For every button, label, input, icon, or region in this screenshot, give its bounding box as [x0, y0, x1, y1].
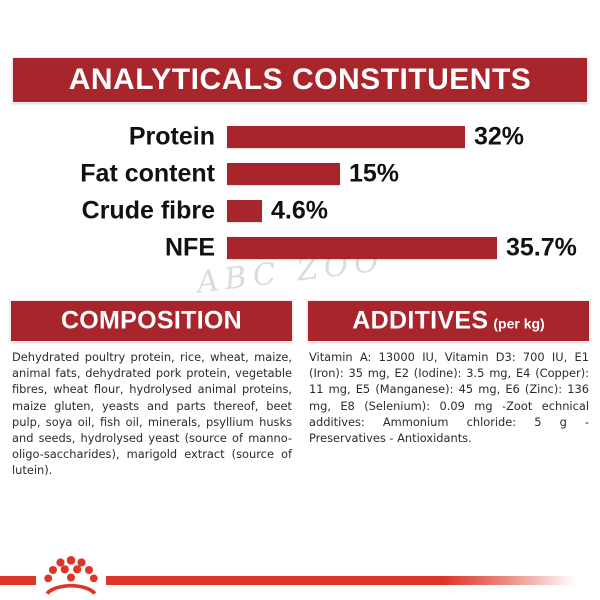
analytics-row-label: Protein [129, 122, 215, 151]
analytics-row-track: 4.6% [227, 200, 262, 222]
footer-logo-bar [0, 552, 600, 600]
analytics-row-value: 32% [474, 122, 524, 151]
additives-header-subtitle: (per kg) [493, 316, 544, 332]
product-label-page: ABC ZOO ANALYTICALS CONSTITUENTS Protein… [0, 0, 600, 600]
analytics-bar [227, 126, 465, 148]
analytics-row: Protein 32% [0, 118, 600, 155]
analytics-row-value: 35.7% [506, 233, 577, 262]
analytics-row-label: Fat content [80, 159, 215, 188]
analytics-bar [227, 200, 262, 222]
composition-panel: COMPOSITION Dehydrated poultry protein, … [10, 300, 293, 479]
analytics-row-track: 35.7% [227, 237, 497, 259]
analytics-row-label: NFE [165, 233, 215, 262]
additives-header-title: ADDITIVES [352, 307, 488, 335]
footer-rule-right [106, 576, 576, 585]
analytics-bar [227, 163, 340, 185]
analytics-row-track: 32% [227, 126, 465, 148]
analytics-chart: Protein 32% Fat content 15% Crude fibre … [0, 118, 600, 266]
analytics-bar [227, 237, 497, 259]
analytics-row-label: Crude fibre [82, 196, 215, 225]
composition-body-text: Dehydrated poultry protein, rice, wheat,… [10, 342, 293, 479]
analytics-row: NFE 35.7% [0, 229, 600, 266]
additives-header: ADDITIVES(per kg) [307, 300, 590, 342]
royal-crown-icon [33, 552, 109, 598]
analytics-row: Fat content 15% [0, 155, 600, 192]
analytics-row: Crude fibre 4.6% [0, 192, 600, 229]
composition-header-title: COMPOSITION [61, 307, 242, 335]
composition-header: COMPOSITION [10, 300, 293, 342]
analytics-row-value: 4.6% [271, 196, 328, 225]
additives-panel: ADDITIVES(per kg) Vitamin A: 13000 IU, V… [307, 300, 590, 446]
analytics-row-track: 15% [227, 163, 340, 185]
analyticals-constituents-banner: ANALYTICALS CONSTITUENTS [12, 57, 588, 103]
analytics-row-value: 15% [349, 159, 399, 188]
additives-body-text: Vitamin A: 13000 IU, Vitamin D3: 700 IU,… [307, 342, 590, 446]
footer-rule-left [0, 576, 36, 585]
page-title: ANALYTICALS CONSTITUENTS [13, 63, 587, 97]
